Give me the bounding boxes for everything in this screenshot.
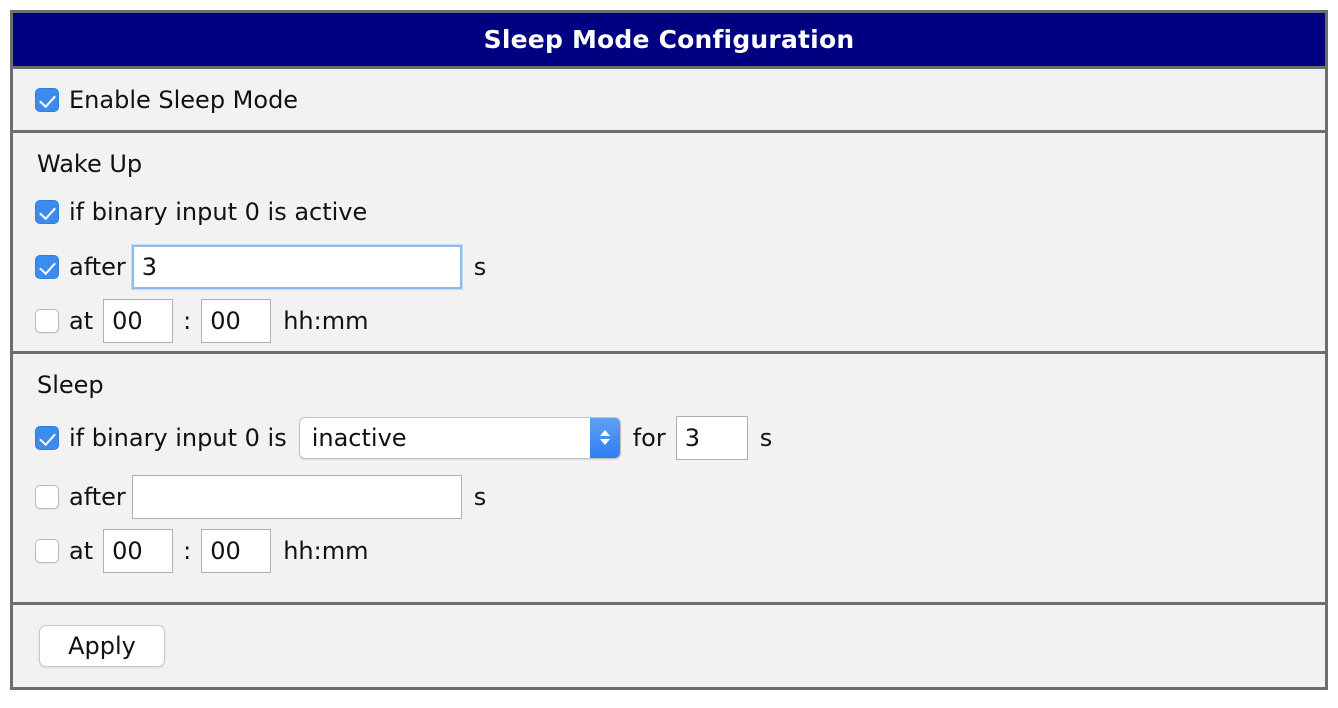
sleep-after-unit: s xyxy=(474,483,487,511)
sleep-mode-configuration-panel: Sleep Mode Configuration Enable Sleep Mo… xyxy=(10,10,1328,690)
enable-sleep-mode-checkbox[interactable] xyxy=(35,88,59,112)
chevron-up-icon xyxy=(600,430,610,436)
wake-up-section: Wake Up if binary input 0 is active afte… xyxy=(13,130,1325,351)
wake-up-at-label: at xyxy=(69,307,93,335)
wake-up-binary-input-checkbox[interactable] xyxy=(35,200,59,224)
sleep-at-row: at 00 : 00 hh:mm xyxy=(35,526,1325,576)
chevron-up-down-icon[interactable] xyxy=(590,418,620,458)
sleep-binary-duration-input[interactable]: 3 xyxy=(676,416,748,460)
wake-up-after-row: after 3 s xyxy=(35,237,1325,296)
wake-up-after-unit: s xyxy=(474,253,487,281)
chevron-down-icon xyxy=(600,439,610,445)
wake-up-at-row: at 00 : 00 hh:mm xyxy=(35,296,1325,346)
sleep-after-row: after s xyxy=(35,467,1325,526)
sleep-at-hours-input[interactable]: 00 xyxy=(103,529,173,573)
wake-up-after-label: after xyxy=(69,253,126,281)
wake-up-at-unit: hh:mm xyxy=(283,307,368,335)
wake-up-heading: Wake Up xyxy=(37,150,1325,178)
sleep-section: Sleep if binary input 0 is inactive for … xyxy=(13,351,1325,602)
wake-up-at-hours-input[interactable]: 00 xyxy=(103,299,173,343)
sleep-at-unit: hh:mm xyxy=(283,537,368,565)
sleep-binary-for-label: for xyxy=(633,424,666,452)
sleep-after-checkbox[interactable] xyxy=(35,485,59,509)
enable-sleep-mode-label: Enable Sleep Mode xyxy=(69,86,298,114)
page-title: Sleep Mode Configuration xyxy=(484,25,855,54)
wake-up-at-separator: : xyxy=(183,307,191,335)
sleep-binary-input-row: if binary input 0 is inactive for 3 s xyxy=(35,408,1325,467)
sleep-at-label: at xyxy=(69,537,93,565)
wake-up-binary-input-label: if binary input 0 is active xyxy=(69,198,367,226)
footer-actions-section: Apply xyxy=(13,602,1325,687)
sleep-heading: Sleep xyxy=(37,371,1325,399)
sleep-binary-input-label: if binary input 0 is xyxy=(69,424,287,452)
window-title-bar: Sleep Mode Configuration xyxy=(13,13,1325,66)
wake-up-at-checkbox[interactable] xyxy=(35,309,59,333)
sleep-binary-duration-unit: s xyxy=(760,424,773,452)
wake-up-binary-input-row: if binary input 0 is active xyxy=(35,187,1325,237)
sleep-after-input[interactable] xyxy=(132,475,462,519)
apply-button[interactable]: Apply xyxy=(39,625,165,667)
sleep-at-separator: : xyxy=(183,537,191,565)
sleep-binary-input-checkbox[interactable] xyxy=(35,426,59,450)
sleep-at-minutes-input[interactable]: 00 xyxy=(201,529,271,573)
sleep-after-label: after xyxy=(69,483,126,511)
sleep-at-checkbox[interactable] xyxy=(35,539,59,563)
wake-up-after-input[interactable]: 3 xyxy=(132,245,462,289)
sleep-binary-state-selected-value: inactive xyxy=(300,424,590,452)
wake-up-at-minutes-input[interactable]: 00 xyxy=(201,299,271,343)
enable-sleep-mode-section: Enable Sleep Mode xyxy=(13,66,1325,130)
wake-up-after-checkbox[interactable] xyxy=(35,255,59,279)
sleep-binary-state-select[interactable]: inactive xyxy=(299,417,621,459)
